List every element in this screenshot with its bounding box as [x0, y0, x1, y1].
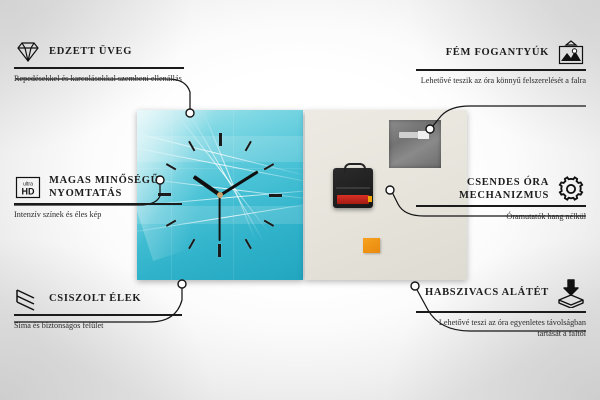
feature-title: MAGAS MINŐSÉGŰ NYOMTATÁS	[49, 174, 182, 200]
feature-metal-handles[interactable]: FÉM FOGANTYÚK Lehetővé teszik az óra kön…	[416, 40, 586, 86]
feature-description: Óramutatók hang nélkül	[416, 211, 586, 222]
feature-description: Repedésekkel és karcolásokkal szembeni e…	[14, 73, 184, 84]
feature-title: HABSZIVACS ALÁTÉT	[425, 286, 549, 299]
foam-pad-arrow-icon	[556, 278, 586, 308]
feature-title: CSISZOLT ÉLEK	[49, 292, 141, 305]
diamond-icon	[14, 40, 42, 64]
ultra-hd-icon: ultra HD	[14, 175, 42, 200]
feature-title: EDZETT ÜVEG	[49, 45, 132, 58]
clock-center-cap	[217, 192, 223, 198]
clock-second-hand	[219, 195, 221, 241]
hanger-slot	[399, 132, 429, 138]
feature-silent-mechanism[interactable]: CSENDES ÓRA MECHANIZMUS Óramutatók hang …	[416, 176, 586, 222]
feature-description: Intenzív színek és éles kép	[14, 209, 182, 220]
quartz-mechanism	[333, 168, 373, 208]
feature-polished-edges[interactable]: CSISZOLT ÉLEK Sima és biztonságos felüle…	[14, 287, 182, 331]
divider	[14, 203, 182, 205]
feature-description: Lehetővé teszi az óra egyenletes távolsá…	[416, 317, 586, 339]
divider	[416, 311, 586, 313]
divider	[416, 205, 586, 207]
feature-title: CSENDES ÓRA MECHANIZMUS	[416, 176, 549, 202]
mechanism-loop	[344, 163, 366, 173]
divider	[416, 69, 586, 71]
feature-description: Sima és biztonságos felület	[14, 320, 182, 331]
feature-description: Lehetővé teszik az óra könnyű felszerelé…	[416, 75, 586, 86]
infographic-canvas: EDZETT ÜVEG Repedésekkel és karcolásokka…	[0, 0, 600, 400]
gear-icon	[556, 176, 586, 202]
svg-text:HD: HD	[22, 186, 35, 196]
mechanism-seam	[336, 187, 370, 189]
divider	[14, 67, 184, 69]
feature-foam-pad[interactable]: HABSZIVACS ALÁTÉT Lehetővé teszi az óra …	[416, 278, 586, 339]
polished-edges-icon	[14, 287, 42, 311]
hanging-picture-icon	[556, 40, 586, 66]
feature-title: FÉM FOGANTYÚK	[446, 46, 549, 59]
battery	[337, 195, 369, 204]
feature-tempered-glass[interactable]: EDZETT ÜVEG Repedésekkel és karcolásokka…	[14, 40, 184, 84]
divider	[14, 314, 182, 316]
metal-hanger-plate	[389, 120, 441, 168]
foam-spacer-pad	[363, 238, 380, 253]
feature-high-quality-print[interactable]: ultra HD MAGAS MINŐSÉGŰ NYOMTATÁS Intenz…	[14, 174, 182, 220]
